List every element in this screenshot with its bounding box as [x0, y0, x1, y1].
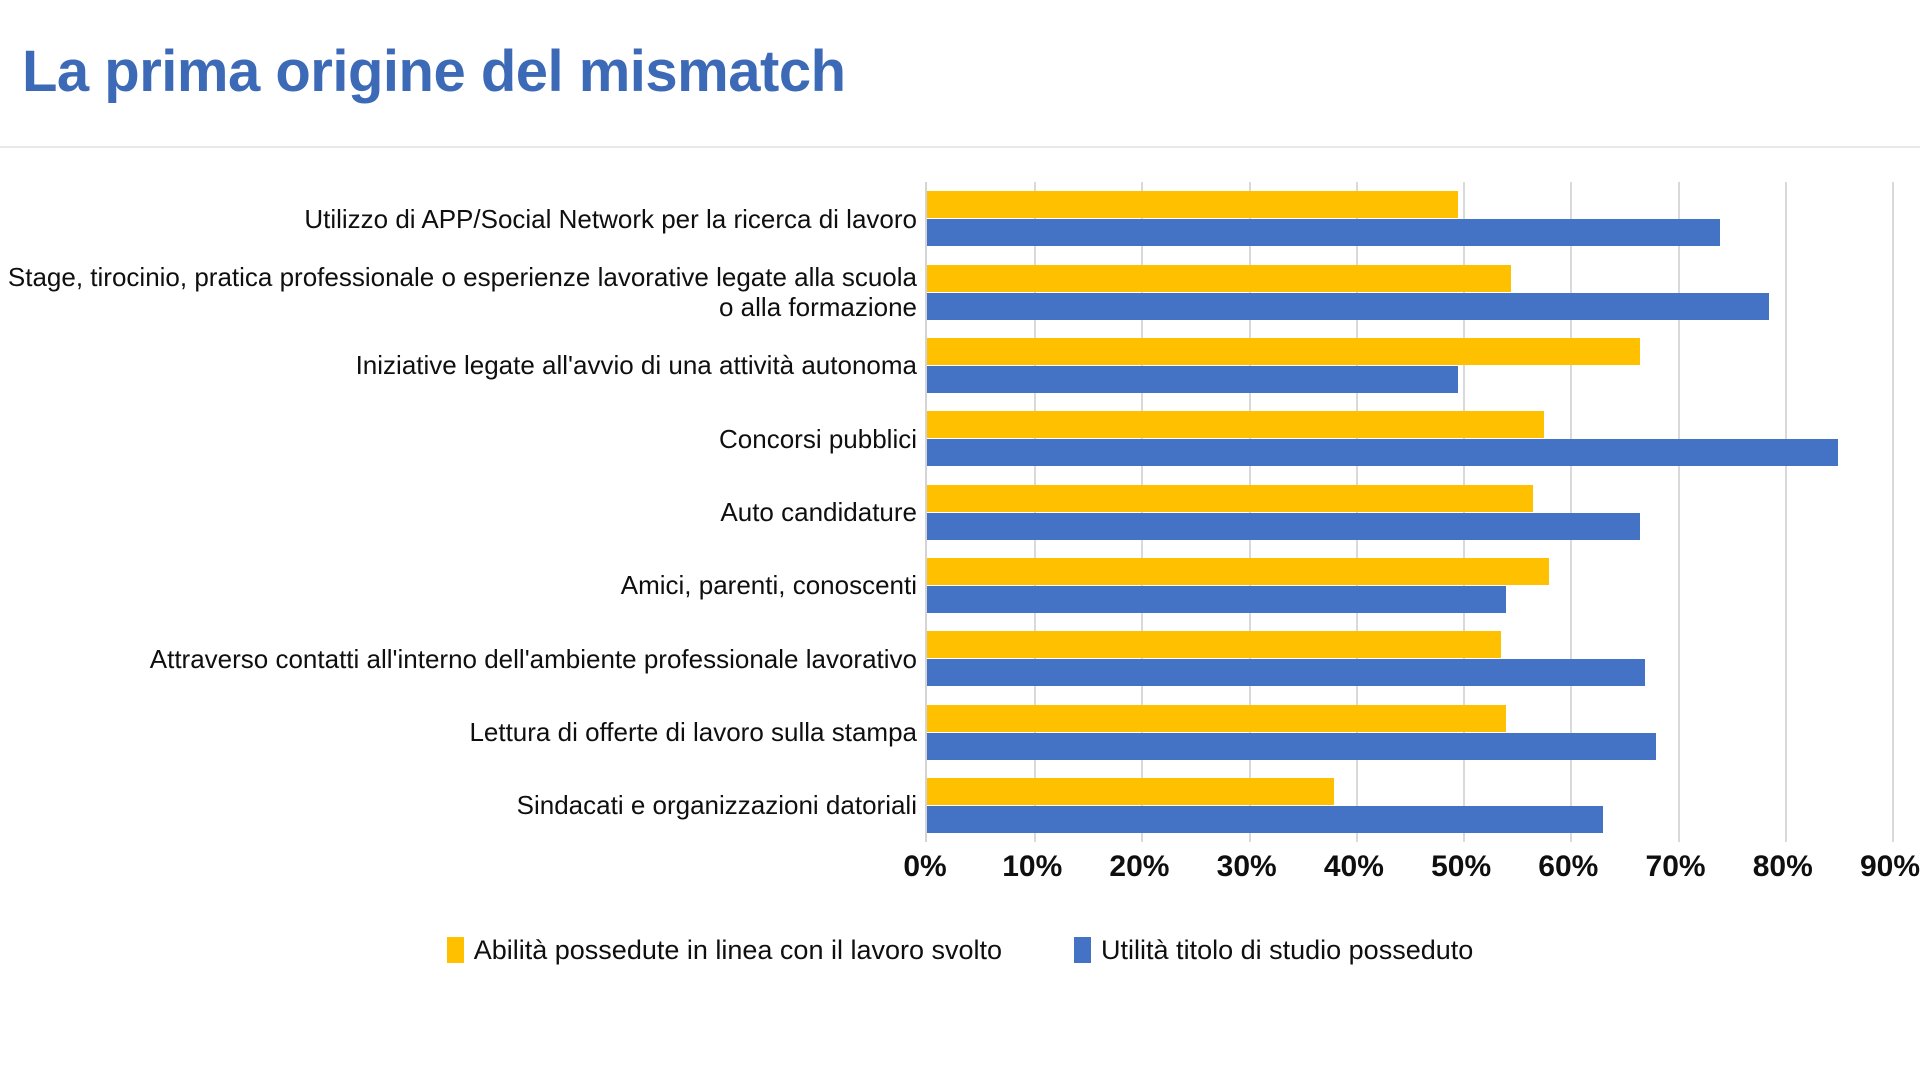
- x-axis-tick-label: 50%: [1431, 850, 1491, 884]
- x-axis-tick-label: 80%: [1753, 850, 1813, 884]
- bar-0: [927, 191, 1458, 218]
- bar-0: [927, 705, 1506, 732]
- category-label: Lettura di offerte di lavoro sulla stamp…: [0, 693, 917, 772]
- gridline: [1892, 182, 1894, 842]
- x-axis-tick-label: 20%: [1109, 850, 1169, 884]
- category-axis-labels: Utilizzo di APP/Social Network per la ri…: [0, 182, 925, 842]
- bar-group: [927, 338, 1890, 393]
- bar-0: [927, 338, 1640, 365]
- x-axis-tick-label: 40%: [1324, 850, 1384, 884]
- bar-group: [927, 558, 1890, 613]
- category-label-text: Auto candidature: [720, 497, 917, 527]
- category-label: Auto candidature: [0, 473, 917, 552]
- bar-group: [927, 411, 1890, 466]
- category-label-text: Lettura di offerte di lavoro sulla stamp…: [469, 717, 917, 747]
- plot-area: [925, 182, 1890, 842]
- bar-1: [927, 806, 1603, 833]
- category-label-text: Stage, tirocinio, pratica professionale …: [0, 262, 917, 322]
- bar-1: [927, 293, 1769, 320]
- category-label: Iniziative legate all'avvio di una attiv…: [0, 326, 917, 405]
- x-axis-tick-label: 0%: [903, 850, 946, 884]
- bar-1: [927, 439, 1838, 466]
- bar-group: [927, 265, 1890, 320]
- x-axis-tick-label: 60%: [1538, 850, 1598, 884]
- category-label: Concorsi pubblici: [0, 399, 917, 478]
- bar-group: [927, 631, 1890, 686]
- category-label: Attraverso contatti all'interno dell'amb…: [0, 619, 917, 698]
- bar-1: [927, 586, 1506, 613]
- x-axis-tick-label: 70%: [1646, 850, 1706, 884]
- bar-group: [927, 705, 1890, 760]
- bar-1: [927, 659, 1645, 686]
- bar-1: [927, 513, 1640, 540]
- page-title: La prima origine del mismatch: [22, 38, 846, 105]
- bar-0: [927, 631, 1501, 658]
- slide-title-band: La prima origine del mismatch: [0, 0, 1920, 148]
- category-label-text: Utilizzo di APP/Social Network per la ri…: [304, 204, 917, 234]
- category-label-text: Iniziative legate all'avvio di una attiv…: [356, 350, 917, 380]
- legend-item[interactable]: Abilità possedute in linea con il lavoro…: [447, 935, 1002, 966]
- chart-legend: Abilità possedute in linea con il lavoro…: [0, 925, 1920, 975]
- category-label: Amici, parenti, conoscenti: [0, 546, 917, 625]
- legend-label: Utilità titolo di studio posseduto: [1101, 935, 1473, 966]
- legend-item[interactable]: Utilità titolo di studio posseduto: [1074, 935, 1473, 966]
- bar-0: [927, 778, 1334, 805]
- x-axis-tick-label: 90%: [1860, 850, 1920, 884]
- bar-0: [927, 265, 1511, 292]
- bar-group: [927, 778, 1890, 833]
- value-axis: 0%10%20%30%40%50%60%70%80%90%: [925, 842, 1890, 902]
- category-label: Sindacati e organizzazioni datoriali: [0, 766, 917, 845]
- category-label: Stage, tirocinio, pratica professionale …: [0, 253, 917, 332]
- bar-chart: Utilizzo di APP/Social Network per la ri…: [0, 150, 1920, 1080]
- bar-0: [927, 558, 1549, 585]
- bar-1: [927, 733, 1656, 760]
- legend-label: Abilità possedute in linea con il lavoro…: [474, 935, 1002, 966]
- bar-1: [927, 219, 1720, 246]
- bar-1: [927, 366, 1458, 393]
- category-label: Utilizzo di APP/Social Network per la ri…: [0, 179, 917, 258]
- bar-0: [927, 411, 1544, 438]
- x-axis-tick-label: 30%: [1217, 850, 1277, 884]
- legend-swatch-icon: [447, 937, 464, 963]
- bar-group: [927, 191, 1890, 246]
- category-label-text: Attraverso contatti all'interno dell'amb…: [150, 644, 917, 674]
- x-axis-tick-label: 10%: [1002, 850, 1062, 884]
- bar-group: [927, 485, 1890, 540]
- bar-0: [927, 485, 1533, 512]
- category-label-text: Concorsi pubblici: [719, 424, 917, 454]
- category-label-text: Amici, parenti, conoscenti: [621, 570, 917, 600]
- category-label-text: Sindacati e organizzazioni datoriali: [517, 790, 917, 820]
- legend-swatch-icon: [1074, 937, 1091, 963]
